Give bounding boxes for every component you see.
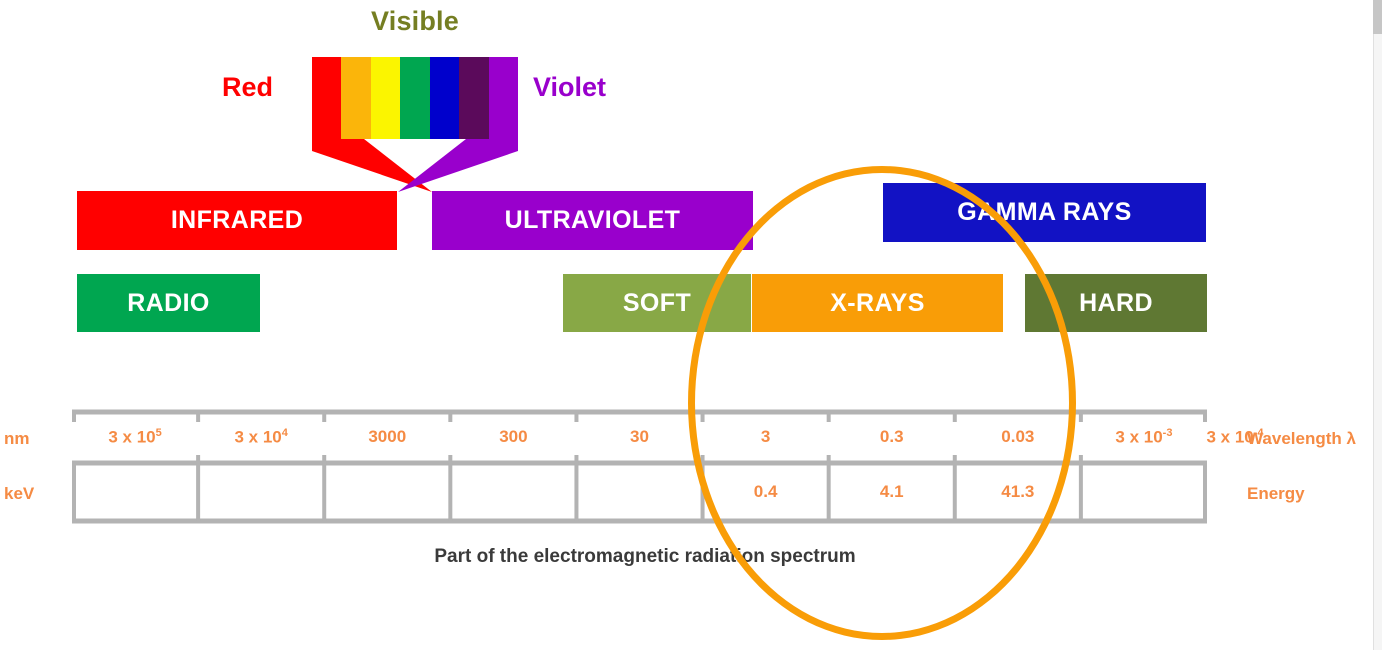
page-scrollbar-thumb[interactable]	[1373, 0, 1382, 34]
spectrum-band-red	[312, 57, 341, 139]
spectrum-band-blue	[430, 57, 459, 139]
wavelength-tick-label: 3 x 10-3	[1115, 427, 1172, 448]
wavelength-tick-label: 3000	[368, 427, 406, 447]
spectrum-band-indigo	[459, 57, 488, 139]
visible-light-title: Visible	[312, 6, 518, 37]
wavelength-tick-label: 3 x 105	[108, 427, 161, 448]
violet-label: Violet	[533, 72, 606, 103]
spectrum-band-green	[400, 57, 429, 139]
annotation-ellipse	[688, 166, 1076, 640]
wavelength-tick-label: 300	[499, 427, 527, 447]
wavelength-tick-label: 3 x 104	[234, 427, 287, 448]
spectrum-band-orange	[341, 57, 370, 139]
band-infrared: INFRARED	[77, 191, 397, 250]
unit-label-nm: nm	[4, 429, 30, 449]
band-ultraviolet: ULTRAVIOLET	[432, 191, 753, 250]
band-radio: RADIO	[77, 274, 260, 332]
page-scrollbar[interactable]	[1373, 0, 1382, 650]
axis-name-energy: Energy	[1247, 484, 1305, 504]
wavelength-tick-label: 30	[630, 427, 649, 447]
spectrum-diagram: Visible Red Violet INFRARED ULTRAVIOLET …	[0, 0, 1382, 650]
diagram-caption: Part of the electromagnetic radiation sp…	[0, 546, 1290, 568]
red-label: Red	[222, 72, 273, 103]
wavelength-tick-label: 3 x 10-4	[1206, 427, 1263, 448]
spectrum-band-violet	[489, 57, 518, 139]
spectrum-band-yellow	[371, 57, 400, 139]
visible-spectrum-strip	[312, 57, 518, 139]
unit-label-kev: keV	[4, 484, 34, 504]
visible-funnel-right	[398, 139, 518, 192]
